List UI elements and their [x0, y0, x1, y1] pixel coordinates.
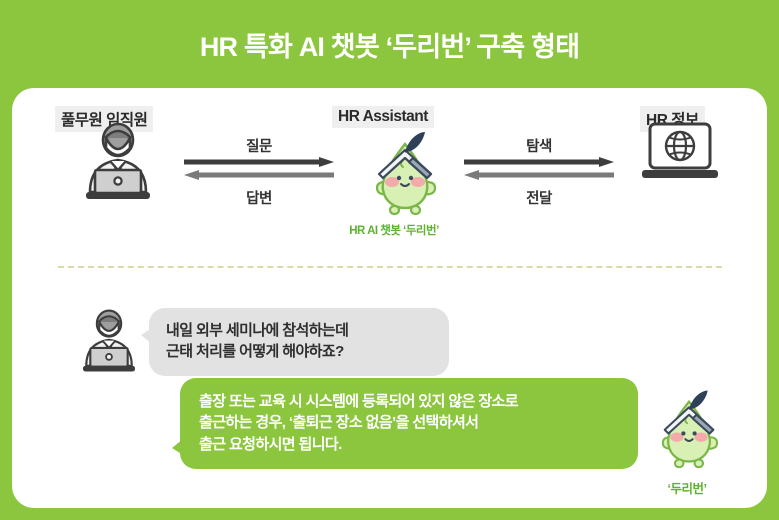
arrow-lines-right [464, 157, 614, 179]
bot-message-line-1: 출장 또는 교육 시 시스템에 등록되어 있지 않은 장소로 [199, 391, 620, 412]
person-at-laptop-icon [70, 116, 166, 207]
arrow-label-question: 질문 [184, 135, 334, 156]
title-bar: HR 특화 AI 챗봇 ‘두리번’ 구축 형태 [0, 0, 779, 88]
mascot-caption-bottom: ‘두리번’ [637, 478, 737, 497]
user-message-bubble: 내일 외부 세미나에 참석하는데 근태 처리를 어떻게 해야하죠? [149, 308, 449, 376]
content-card: 풀무원 임직원 질문 답변 HR Assis [12, 88, 767, 508]
section-divider [58, 266, 722, 268]
arrow-label-deliver: 전달 [464, 187, 614, 208]
user-bubble-tail [141, 328, 152, 344]
arrow-label-answer: 답변 [184, 187, 334, 208]
laptop-globe-icon [634, 120, 726, 195]
bot-message-bubble: 출장 또는 교육 시 시스템에 등록되어 있지 않은 장소로 출근하는 경우, … [180, 378, 638, 469]
arrow-label-search: 탐색 [464, 135, 614, 156]
bot-bubble-tail [172, 439, 183, 455]
user-message-line-1: 내일 외부 세미나에 참석하는데 [166, 320, 433, 341]
chat-person-icon [70, 303, 148, 380]
mascot-caption-top: HR AI 챗봇 ‘두리번’ [324, 222, 464, 238]
bot-message-line-3: 출근 요청하시면 됩니다. [199, 434, 620, 455]
page-title: HR 특화 AI 챗봇 ‘두리번’ 구축 형태 [200, 25, 579, 64]
mascot-icon-bottom [646, 378, 732, 479]
arrow-lines-left [184, 157, 334, 179]
user-message-line-2: 근태 처리를 어떻게 해야하죠? [166, 341, 433, 362]
bot-message-line-2: 출근하는 경우, ‘출퇴근 장소 없음’을 선택하셔서 [199, 412, 620, 433]
mascot-icon [359, 124, 451, 221]
